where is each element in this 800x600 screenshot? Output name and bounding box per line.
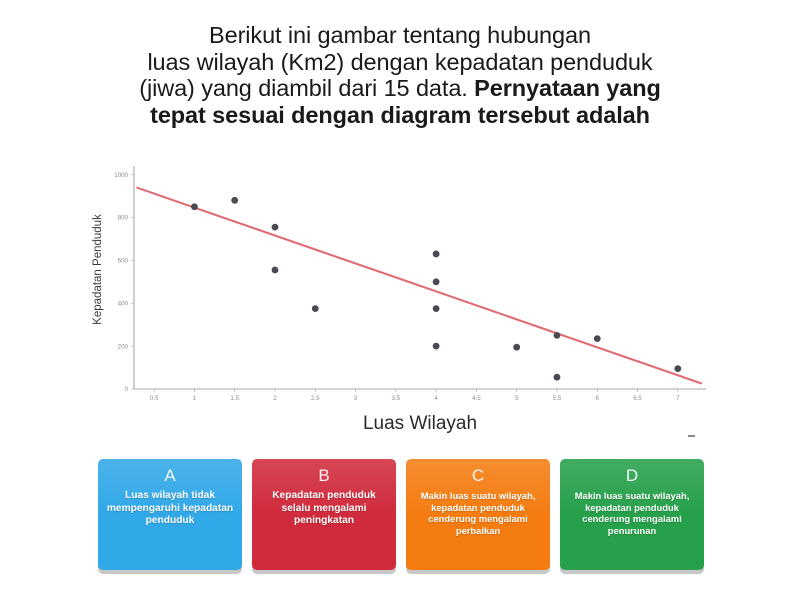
svg-text:6: 6	[596, 395, 600, 402]
svg-text:5: 5	[515, 395, 519, 402]
svg-text:1.5: 1.5	[230, 395, 239, 402]
svg-text:Luas Wilayah: Luas Wilayah	[363, 413, 477, 434]
page-mark	[688, 435, 695, 437]
answer-option-c[interactable]: C Makin luas suatu wilayah, kepadatan pe…	[406, 459, 550, 570]
answer-letter-b: B	[318, 466, 329, 486]
svg-text:4: 4	[434, 395, 438, 402]
svg-text:3.5: 3.5	[392, 395, 401, 402]
y-axis: 02004006008001000	[114, 166, 134, 393]
svg-text:200: 200	[118, 343, 129, 350]
svg-text:400: 400	[118, 300, 129, 307]
answer-text-d: Makin luas suatu wilayah, kepadatan pend…	[560, 490, 704, 536]
answer-option-d[interactable]: D Makin luas suatu wilayah, kepadatan pe…	[560, 459, 704, 570]
svg-text:0.5: 0.5	[150, 395, 159, 402]
svg-text:1000: 1000	[114, 172, 128, 179]
scatter-chart: 02004006008001000 0.511.522.533.544.555.…	[88, 152, 712, 447]
data-points	[191, 197, 681, 381]
svg-text:1: 1	[193, 395, 197, 402]
question-line-3: (jiwa) yang diambil dari 15 data. Pernya…	[0, 75, 800, 102]
x-axis: 0.511.522.533.544.555.566.57	[134, 389, 706, 402]
svg-text:4.5: 4.5	[472, 395, 481, 402]
answer-option-b[interactable]: B Kepadatan penduduk selalu mengalami pe…	[252, 459, 396, 570]
question-line-3-normal: (jiwa) yang diambil dari 15 data.	[139, 75, 474, 101]
svg-text:2.5: 2.5	[311, 395, 320, 402]
trend-line	[136, 187, 702, 383]
question-text: Berikut ini gambar tentang hubungan luas…	[0, 22, 800, 128]
svg-text:3: 3	[354, 395, 358, 402]
svg-text:5.5: 5.5	[553, 395, 562, 402]
question-line-4: tepat sesuai dengan diagram tersebut ada…	[0, 102, 800, 129]
chart-svg: 02004006008001000 0.511.522.533.544.555.…	[88, 152, 712, 447]
answer-text-c: Makin luas suatu wilayah, kepadatan pend…	[406, 490, 550, 536]
answer-letter-a: A	[164, 466, 175, 486]
svg-text:0: 0	[125, 386, 129, 393]
answer-letter-c: C	[472, 466, 484, 486]
question-line-3-bold: Pernyataan yang	[474, 75, 661, 101]
svg-text:Kepadatan Penduduk: Kepadatan Penduduk	[92, 214, 104, 325]
answer-letter-d: D	[626, 466, 638, 486]
question-line-2: luas wilayah (Km2) dengan kepadatan pend…	[0, 49, 800, 76]
svg-text:600: 600	[118, 258, 129, 265]
answer-text-b: Kepadatan penduduk selalu mengalami peni…	[252, 490, 396, 528]
svg-text:2: 2	[273, 395, 277, 402]
answer-option-a[interactable]: A Luas wilayah tidak mempengaruhi kepada…	[98, 459, 242, 570]
answer-options: A Luas wilayah tidak mempengaruhi kepada…	[98, 459, 704, 570]
question-line-1: Berikut ini gambar tentang hubungan	[0, 22, 800, 49]
svg-text:800: 800	[118, 215, 129, 222]
svg-text:6.5: 6.5	[633, 395, 642, 402]
svg-text:7: 7	[676, 395, 680, 402]
answer-text-a: Luas wilayah tidak mempengaruhi kepadata…	[98, 490, 242, 528]
